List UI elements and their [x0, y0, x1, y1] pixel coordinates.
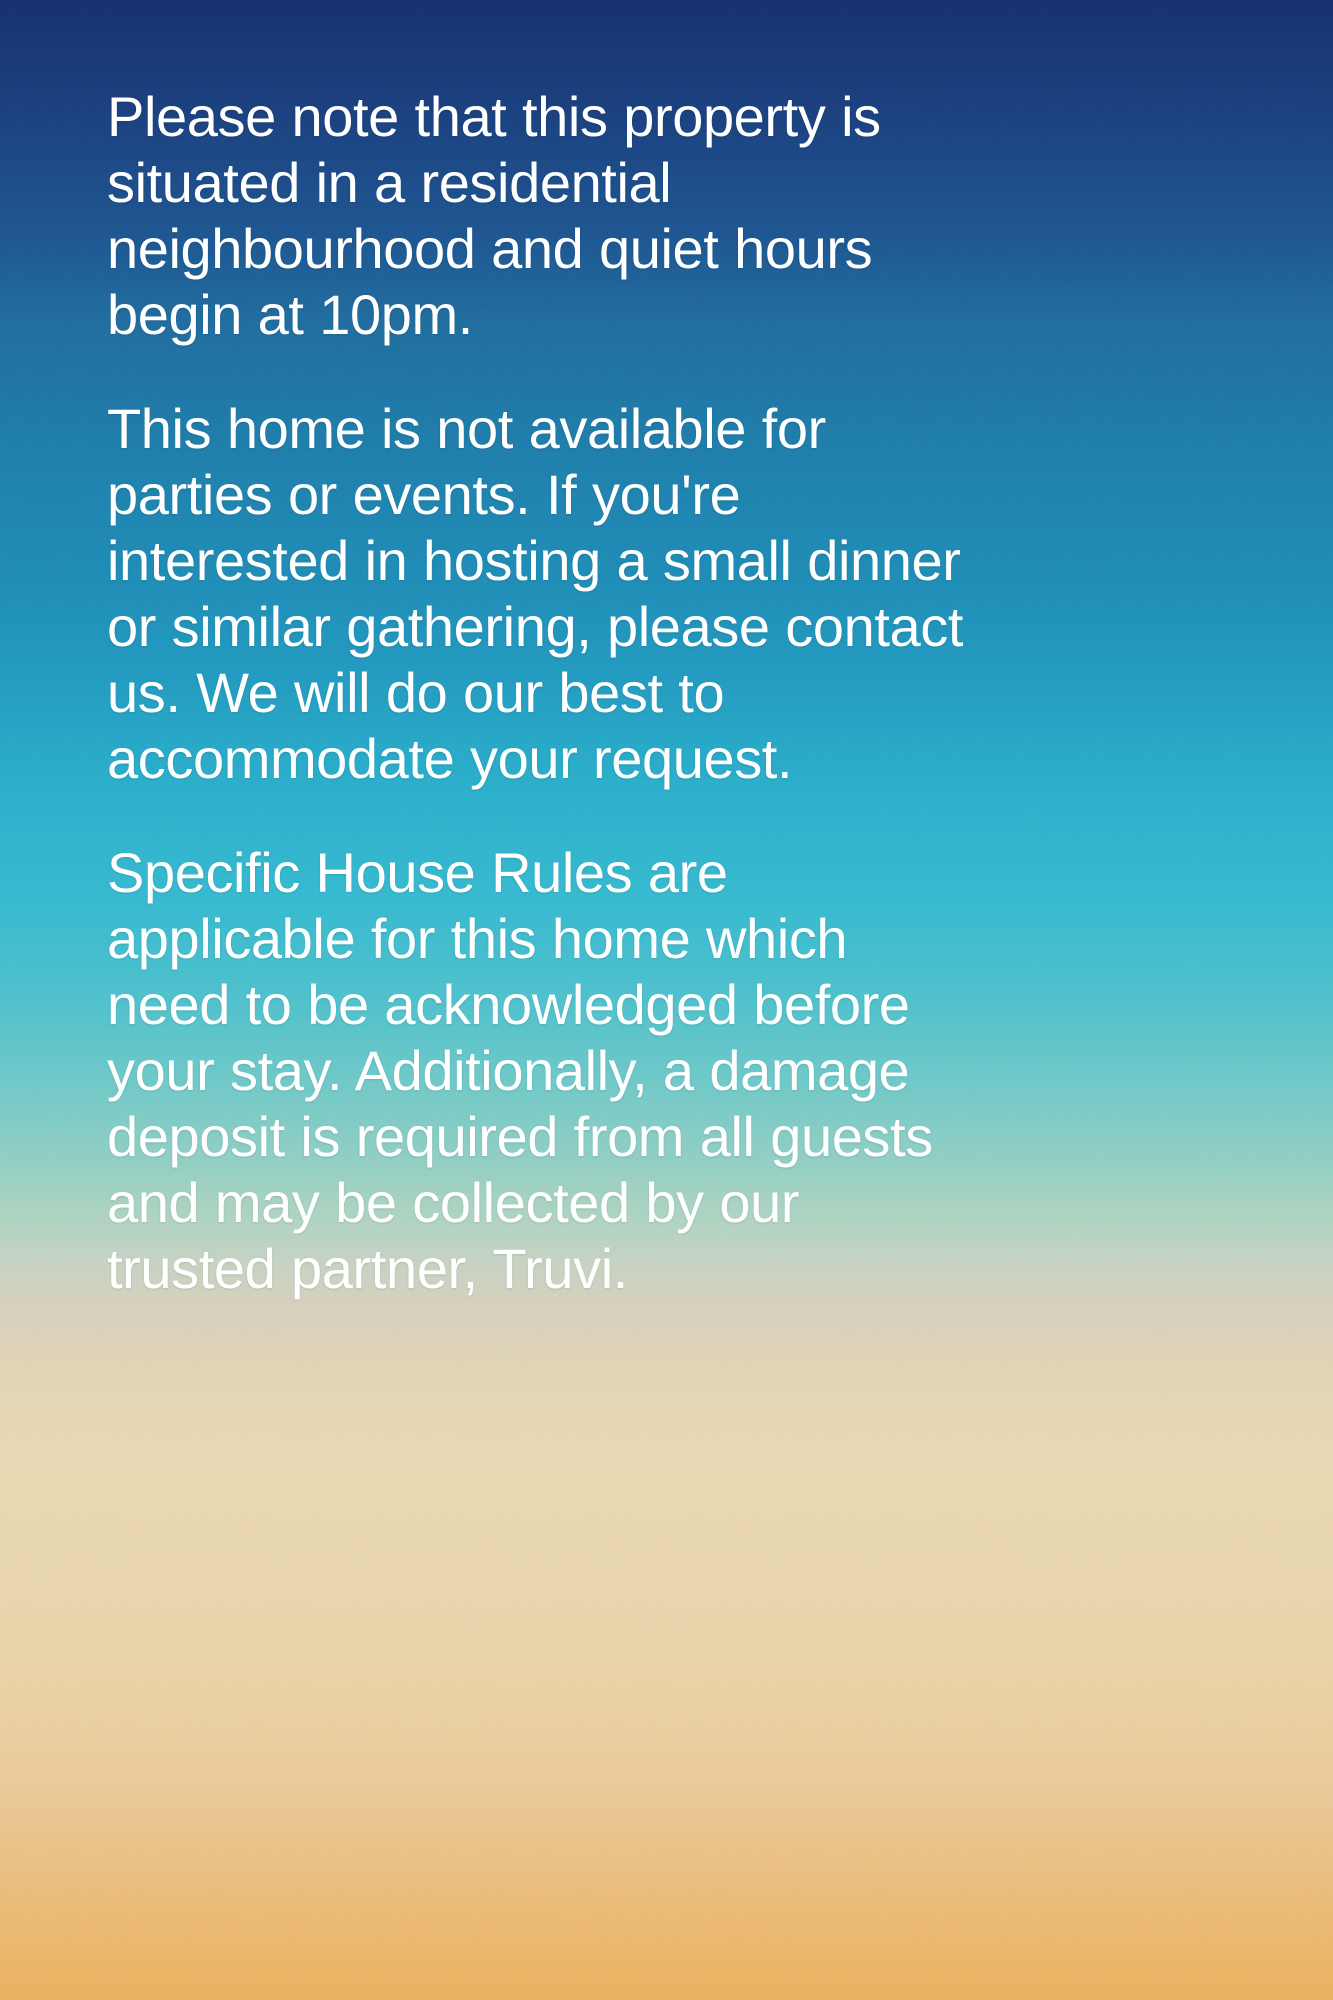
paragraph-quiet-hours: Please note that this property is situat…	[107, 84, 977, 348]
notice-card: Please note that this property is situat…	[0, 0, 1333, 2000]
paragraph-no-parties: This home is not available for parties o…	[107, 396, 977, 792]
paragraph-specific-house-rules: Specific House Rules are applicable for …	[107, 840, 977, 1302]
notice-text-block: Please note that this property is situat…	[107, 84, 977, 1302]
